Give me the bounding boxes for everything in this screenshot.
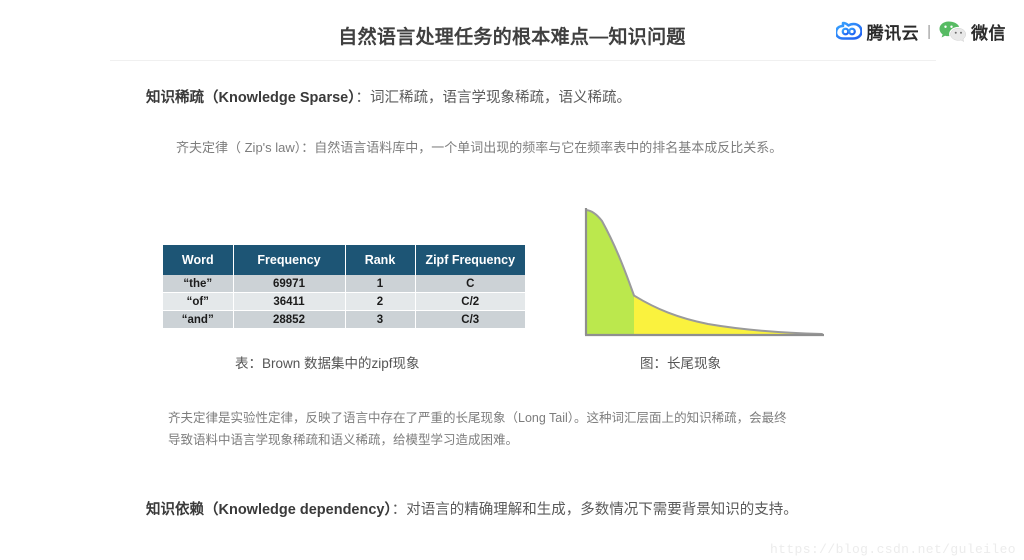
- header-divider: [110, 60, 936, 61]
- cell-frequency: 69971: [233, 275, 345, 293]
- cell-rank: 2: [345, 293, 415, 311]
- wechat-brand: 微信: [939, 19, 1006, 44]
- paragraph-line-1: 齐夫定律是实验性定律，反映了语言中存在了严重的长尾现象（Long Tail）。这…: [168, 407, 808, 429]
- column-header-zipf-frequency: Zipf Frequency: [415, 245, 525, 275]
- knowledge-sparse-rest: ：词汇稀疏，语言学现象稀疏，语义稀疏。: [355, 90, 631, 106]
- tencent-cloud-label: 腾讯云: [867, 19, 920, 44]
- brand-cluster: 腾讯云 | 微信: [836, 17, 1006, 45]
- knowledge-sparse-heading: 知识稀疏（Knowledge Sparse）：词汇稀疏，语言学现象稀疏，语义稀疏…: [146, 86, 631, 107]
- brand-separator: |: [927, 23, 931, 40]
- cell-word: “the”: [163, 275, 233, 293]
- wechat-label: 微信: [971, 19, 1006, 44]
- cell-word: “of”: [163, 293, 233, 311]
- knowledge-dependency-rest: ：对语言的精确理解和生成，多数情况下需要背景知识的支持。: [392, 502, 798, 518]
- cell-zipf: C/2: [415, 293, 525, 311]
- cell-zipf: C/3: [415, 311, 525, 329]
- cell-frequency: 28852: [233, 311, 345, 329]
- table-row: “the” 69971 1 C: [163, 275, 525, 293]
- cell-word: “and”: [163, 311, 233, 329]
- knowledge-sparse-bold: 知识稀疏（Knowledge Sparse）: [146, 90, 355, 106]
- chart-tail-area: [634, 296, 822, 335]
- wechat-logo-icon: [939, 20, 966, 43]
- tencent-cloud-brand: 腾讯云: [836, 19, 920, 44]
- long-tail-chart: [578, 205, 828, 340]
- long-tail-explanation: 齐夫定律是实验性定律，反映了语言中存在了严重的长尾现象（Long Tail）。这…: [168, 407, 808, 451]
- table-row: “of” 36411 2 C/2: [163, 293, 525, 311]
- cell-frequency: 36411: [233, 293, 345, 311]
- zipf-law-definition: 齐夫定律（ Zip's law）：自然语言语料库中，一个单词出现的频率与它在频率…: [176, 137, 782, 156]
- knowledge-dependency-heading: 知识依赖（Knowledge dependency）：对语言的精确理解和生成，多…: [146, 498, 798, 519]
- table-row: “and” 28852 3 C/3: [163, 311, 525, 329]
- knowledge-dependency-bold: 知识依赖（Knowledge dependency）: [146, 502, 392, 518]
- column-header-rank: Rank: [345, 245, 415, 275]
- cell-zipf: C: [415, 275, 525, 293]
- chart-head-area: [586, 210, 634, 334]
- table-header-row: Word Frequency Rank Zipf Frequency: [163, 245, 525, 275]
- tencent-cloud-logo-icon: [836, 20, 862, 42]
- source-watermark: https://blog.csdn.net/guleileo: [770, 542, 1016, 557]
- paragraph-line-2: 导致语料中语言学现象稀疏和语义稀疏，给模型学习造成困难。: [168, 429, 808, 451]
- slide-header: 自然语言处理任务的根本难点—知识问题 腾讯云 |: [0, 0, 1024, 58]
- figure-caption: 图：长尾现象: [640, 352, 721, 372]
- cell-rank: 1: [345, 275, 415, 293]
- zipf-frequency-table: Word Frequency Rank Zipf Frequency “the”…: [163, 245, 525, 329]
- table-caption: 表：Brown 数据集中的zipf现象: [235, 352, 420, 372]
- column-header-frequency: Frequency: [233, 245, 345, 275]
- column-header-word: Word: [163, 245, 233, 275]
- cell-rank: 3: [345, 311, 415, 329]
